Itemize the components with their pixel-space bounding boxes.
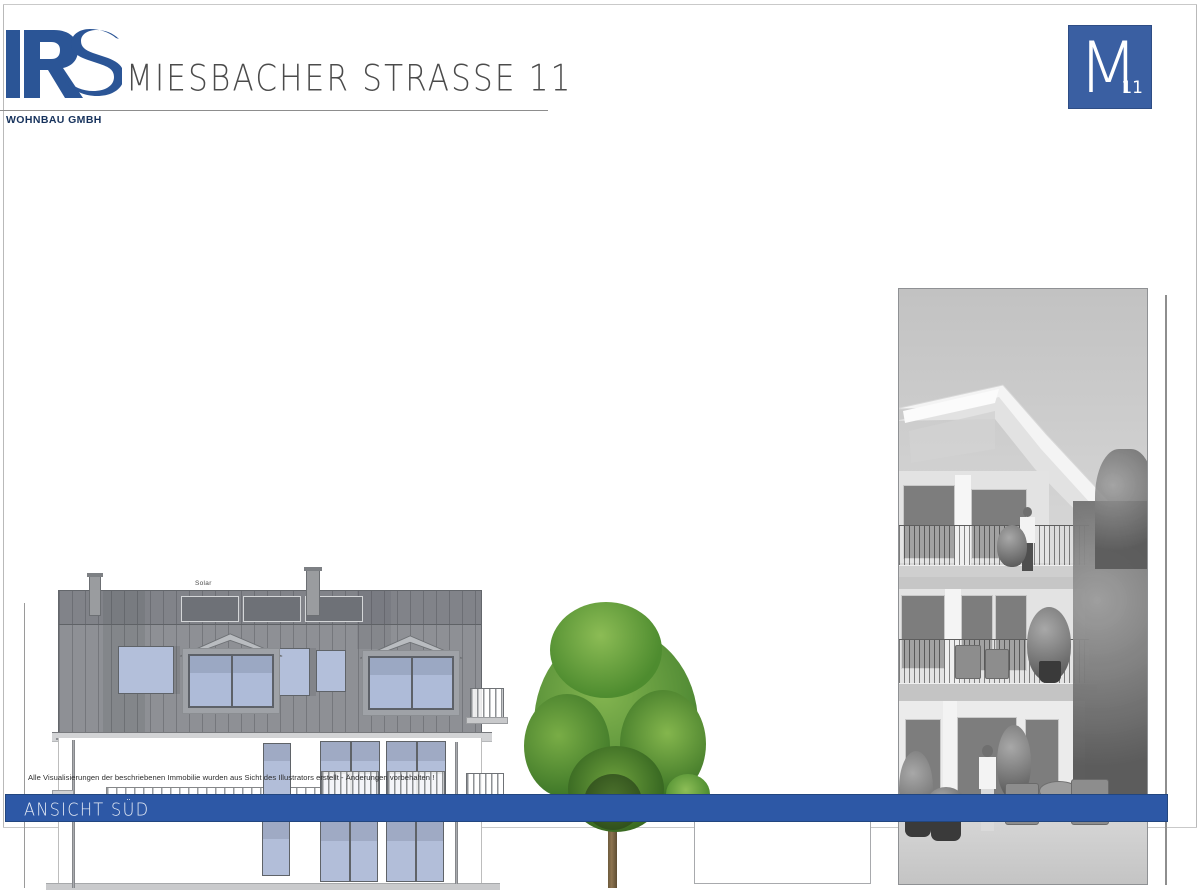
side-balcony-railing-upper — [470, 688, 504, 718]
glass-shade — [264, 744, 290, 761]
view-label-bar: ANSICHT SÜD — [5, 794, 1168, 822]
dormer-right — [352, 634, 472, 718]
page-title: MIESBACHER STRASSE 11 — [126, 61, 573, 98]
sliding-door-ground-1 — [320, 820, 378, 882]
window-upper-1 — [263, 743, 291, 795]
window-mullion — [415, 821, 417, 881]
window-mullion — [411, 658, 413, 708]
title-divider — [0, 110, 548, 111]
glass-shade — [263, 821, 289, 839]
solar-panel — [181, 596, 239, 622]
view-label: ANSICHT SÜD — [24, 799, 149, 820]
chimney-cap-right — [304, 567, 322, 571]
page-border-top — [3, 4, 1197, 5]
project-badge: M 11 — [1068, 25, 1152, 109]
photo-balcony-chair-1 — [955, 645, 981, 679]
chimney-right — [306, 570, 320, 616]
roof-window-3 — [316, 650, 346, 692]
sliding-door-ground-2 — [386, 820, 444, 882]
garage-body — [694, 814, 871, 884]
photo-person-torso — [979, 757, 996, 789]
presentation-page: WOHNBAU GMBH MIESBACHER STRASSE 11 M 11 … — [0, 0, 1200, 832]
photo-balcony-chair-2 — [985, 649, 1009, 679]
solar-panel — [243, 596, 301, 622]
side-balcony-slab-upper — [466, 717, 508, 724]
photo-upper-balcony-railing — [899, 525, 1089, 568]
deciduous-tree — [524, 598, 706, 888]
roof-window-1 — [118, 646, 174, 694]
roof-ridge-line — [59, 624, 481, 625]
dormer-window-right — [368, 656, 454, 710]
photo-mid-balcony-slab — [899, 683, 1097, 702]
window-mullion — [349, 821, 351, 881]
window-mullion — [231, 656, 233, 706]
photo-person-head — [1023, 507, 1032, 517]
dormer-left — [172, 632, 292, 716]
rs-wohnbau-logo: WOHNBAU GMBH — [4, 26, 122, 104]
photo-balcony-pot — [1039, 661, 1061, 683]
chimney-left — [89, 576, 101, 616]
tree-canopy-top — [550, 602, 662, 698]
badge-number: 11 — [1121, 78, 1143, 98]
ground-line — [46, 883, 500, 890]
window-ground-1 — [262, 820, 290, 876]
drawing-canvas: Solar — [0, 120, 1200, 770]
disclaimer-text: Alle Visualisierungen der beschriebenen … — [28, 773, 434, 782]
photo-tree-right — [1095, 449, 1148, 569]
dimension-line-left — [24, 603, 25, 888]
chimney-cap-left — [87, 573, 103, 577]
photo-person-head — [982, 745, 993, 757]
photo-planter-upper — [997, 525, 1027, 567]
dormer-window-left — [188, 654, 274, 708]
solar-label: Solar — [195, 580, 212, 587]
